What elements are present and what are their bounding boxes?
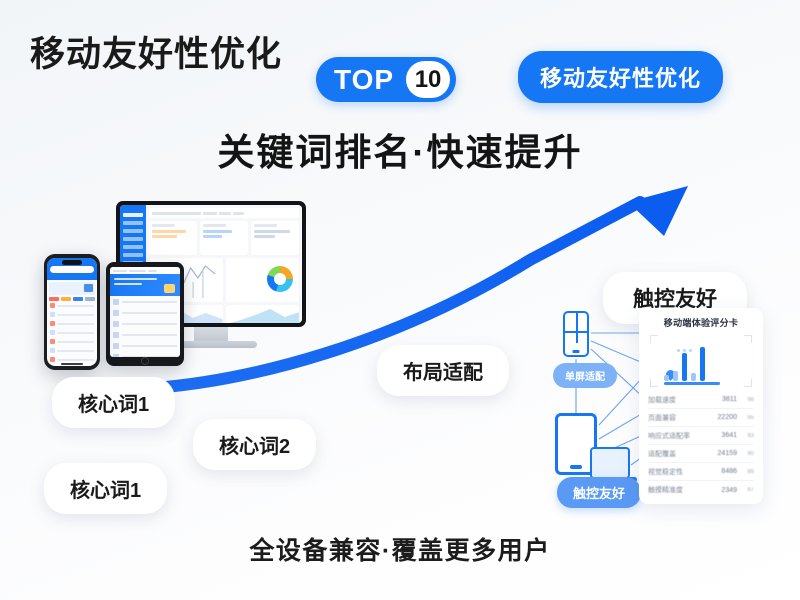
list-item xyxy=(47,321,97,326)
phone-home-indicator xyxy=(61,363,83,365)
dynamic-island-icon xyxy=(62,260,82,265)
donut-icon xyxy=(267,266,293,292)
top-badge-word: TOP xyxy=(334,64,406,96)
table-row: 适配覆盖 24159 90 xyxy=(648,445,754,463)
area-chart-widget-2 xyxy=(226,305,300,323)
row-label: 页面兼容 xyxy=(648,413,711,423)
keyword-pill-3: 核心词1 xyxy=(44,463,167,514)
list-item xyxy=(113,310,177,316)
list-item xyxy=(113,332,177,338)
row-pct: 90 xyxy=(737,451,754,457)
list-item xyxy=(47,348,97,353)
row-pct: 98 xyxy=(737,397,754,403)
callout-layout-adaptation: 布局适配 xyxy=(377,345,509,396)
header-tag-pill: 移动友好性优化 xyxy=(518,51,723,103)
phone-mockup xyxy=(44,254,100,370)
scorecard-visual xyxy=(650,335,752,387)
footer-tagline: 全设备兼容·覆盖更多用户 xyxy=(0,531,800,567)
list-item xyxy=(47,312,97,317)
table-row: 加载速度 3811 98 xyxy=(648,391,754,409)
row-value: 22200 xyxy=(711,414,737,421)
list-item xyxy=(113,321,177,327)
row-value: 2349 xyxy=(711,487,737,494)
tablet-mockup xyxy=(106,262,184,366)
tablet-list xyxy=(110,296,180,357)
list-item xyxy=(47,357,97,362)
list-item xyxy=(113,343,177,349)
mobile-experience-scorecard: 移动端体验评分卡 加载速度 3811 98 页面兼容 222 xyxy=(639,308,763,504)
laptop-icon xyxy=(590,447,630,479)
table-row: 响应式适配率 3641 93 xyxy=(648,427,754,445)
row-value: 24159 xyxy=(711,450,737,457)
poster-canvas: 移动友好性优化 TOP 10 移动友好性优化 关键词排名·快速提升 xyxy=(0,0,800,600)
top-rank-badge: TOP 10 xyxy=(316,57,456,102)
table-row: 页面兼容 22200 95 xyxy=(648,409,754,427)
tablet-home-button xyxy=(141,357,149,365)
list-item xyxy=(47,339,97,344)
scorecard-bars xyxy=(664,341,740,381)
row-pct: 88 xyxy=(737,469,754,475)
promo-thumb-icon xyxy=(84,284,93,292)
page-title: 移动友好性优化 xyxy=(30,26,282,77)
list-item xyxy=(47,330,97,335)
monitor-neck xyxy=(194,327,228,341)
row-pct: 87 xyxy=(737,487,754,493)
phone-screen xyxy=(47,258,97,366)
list-item xyxy=(47,303,97,308)
diagram-tag-touch: 触控友好 xyxy=(557,477,641,508)
table-row: 触摸精准度 2349 87 xyxy=(648,481,754,499)
search-input[interactable] xyxy=(50,266,94,273)
banner-badge-icon xyxy=(164,284,175,293)
row-label: 视觉稳定性 xyxy=(648,467,711,477)
tablet-banner xyxy=(110,274,180,296)
table-row: 视觉稳定性 8486 88 xyxy=(648,463,754,481)
dashboard-topbar xyxy=(149,208,299,218)
row-value: 8486 xyxy=(711,468,737,475)
small-phone-icon xyxy=(563,311,589,357)
dashboard-card xyxy=(149,221,197,255)
top-badge-number: 10 xyxy=(406,61,450,98)
row-label: 适配覆盖 xyxy=(648,449,711,459)
row-label: 触摸精准度 xyxy=(648,485,711,495)
list-item xyxy=(113,299,177,305)
dashboard-card xyxy=(251,221,299,255)
row-pct: 93 xyxy=(737,433,754,439)
diagram-tag-multi-screen: 单屏适配 xyxy=(553,363,617,388)
dashboard-card xyxy=(200,221,248,255)
scorecard-title: 移动端体验评分卡 xyxy=(648,316,754,329)
row-pct: 95 xyxy=(737,415,754,421)
keyword-pill-2: 核心词2 xyxy=(193,419,316,470)
donut-chart-widget xyxy=(226,258,300,302)
row-label: 加载速度 xyxy=(648,395,711,405)
row-value: 3811 xyxy=(711,396,737,403)
row-value: 3641 xyxy=(711,432,737,439)
scorecard-rows: 加载速度 3811 98 页面兼容 22200 95 响应式适配率 3641 9… xyxy=(648,391,754,499)
promo-banner xyxy=(49,282,95,295)
row-label: 响应式适配率 xyxy=(648,431,711,441)
keyword-pill-1: 核心词1 xyxy=(52,377,175,428)
tablet-screen xyxy=(110,267,180,357)
tablet-statusbar xyxy=(110,267,180,274)
